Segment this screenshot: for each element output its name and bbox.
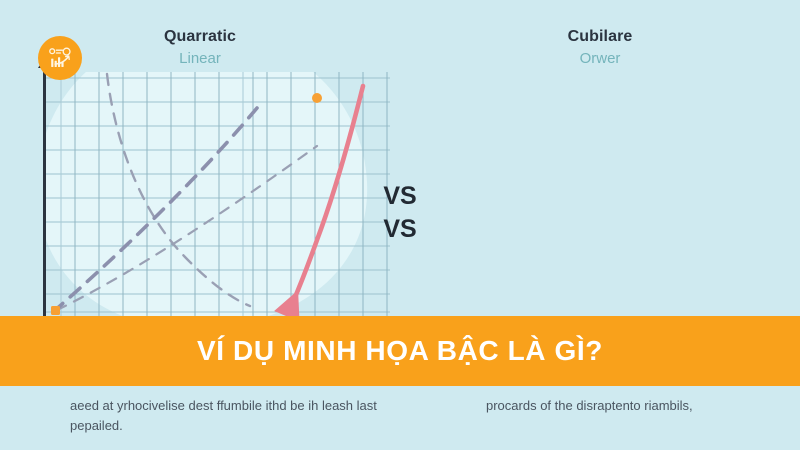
chart-panel-right: Cubilare Orwer bbox=[400, 0, 800, 320]
versus-block: VS VS bbox=[371, 180, 429, 246]
brand-logo[interactable] bbox=[38, 36, 82, 80]
decor-blob-left bbox=[45, 72, 367, 316]
infographic-canvas: Quarratic Linear bbox=[0, 0, 800, 450]
right-chart-subtitle: Orwer bbox=[400, 50, 800, 67]
versus-label-top: VS bbox=[371, 180, 429, 213]
peak-marker-left bbox=[312, 93, 322, 103]
bottom-paragraph-left: aeed at yrhocivelise dest ffumbile ithd … bbox=[70, 396, 400, 436]
left-chart-svg bbox=[45, 72, 390, 316]
left-plot-area bbox=[45, 72, 390, 316]
right-chart-title: Cubilare bbox=[400, 28, 800, 46]
bottom-paragraph-right: procards of the disraptento riambils, bbox=[486, 396, 800, 416]
versus-label-bottom: VS bbox=[371, 213, 429, 246]
bar-chart-analytics-icon bbox=[46, 44, 74, 72]
origin-marker-left bbox=[51, 306, 60, 315]
headline-banner: VÍ DỤ MINH HỌA BẬC LÀ GÌ? bbox=[0, 316, 800, 386]
headline-text: VÍ DỤ MINH HỌA BẬC LÀ GÌ? bbox=[197, 335, 603, 367]
left-y-axis bbox=[43, 66, 46, 318]
